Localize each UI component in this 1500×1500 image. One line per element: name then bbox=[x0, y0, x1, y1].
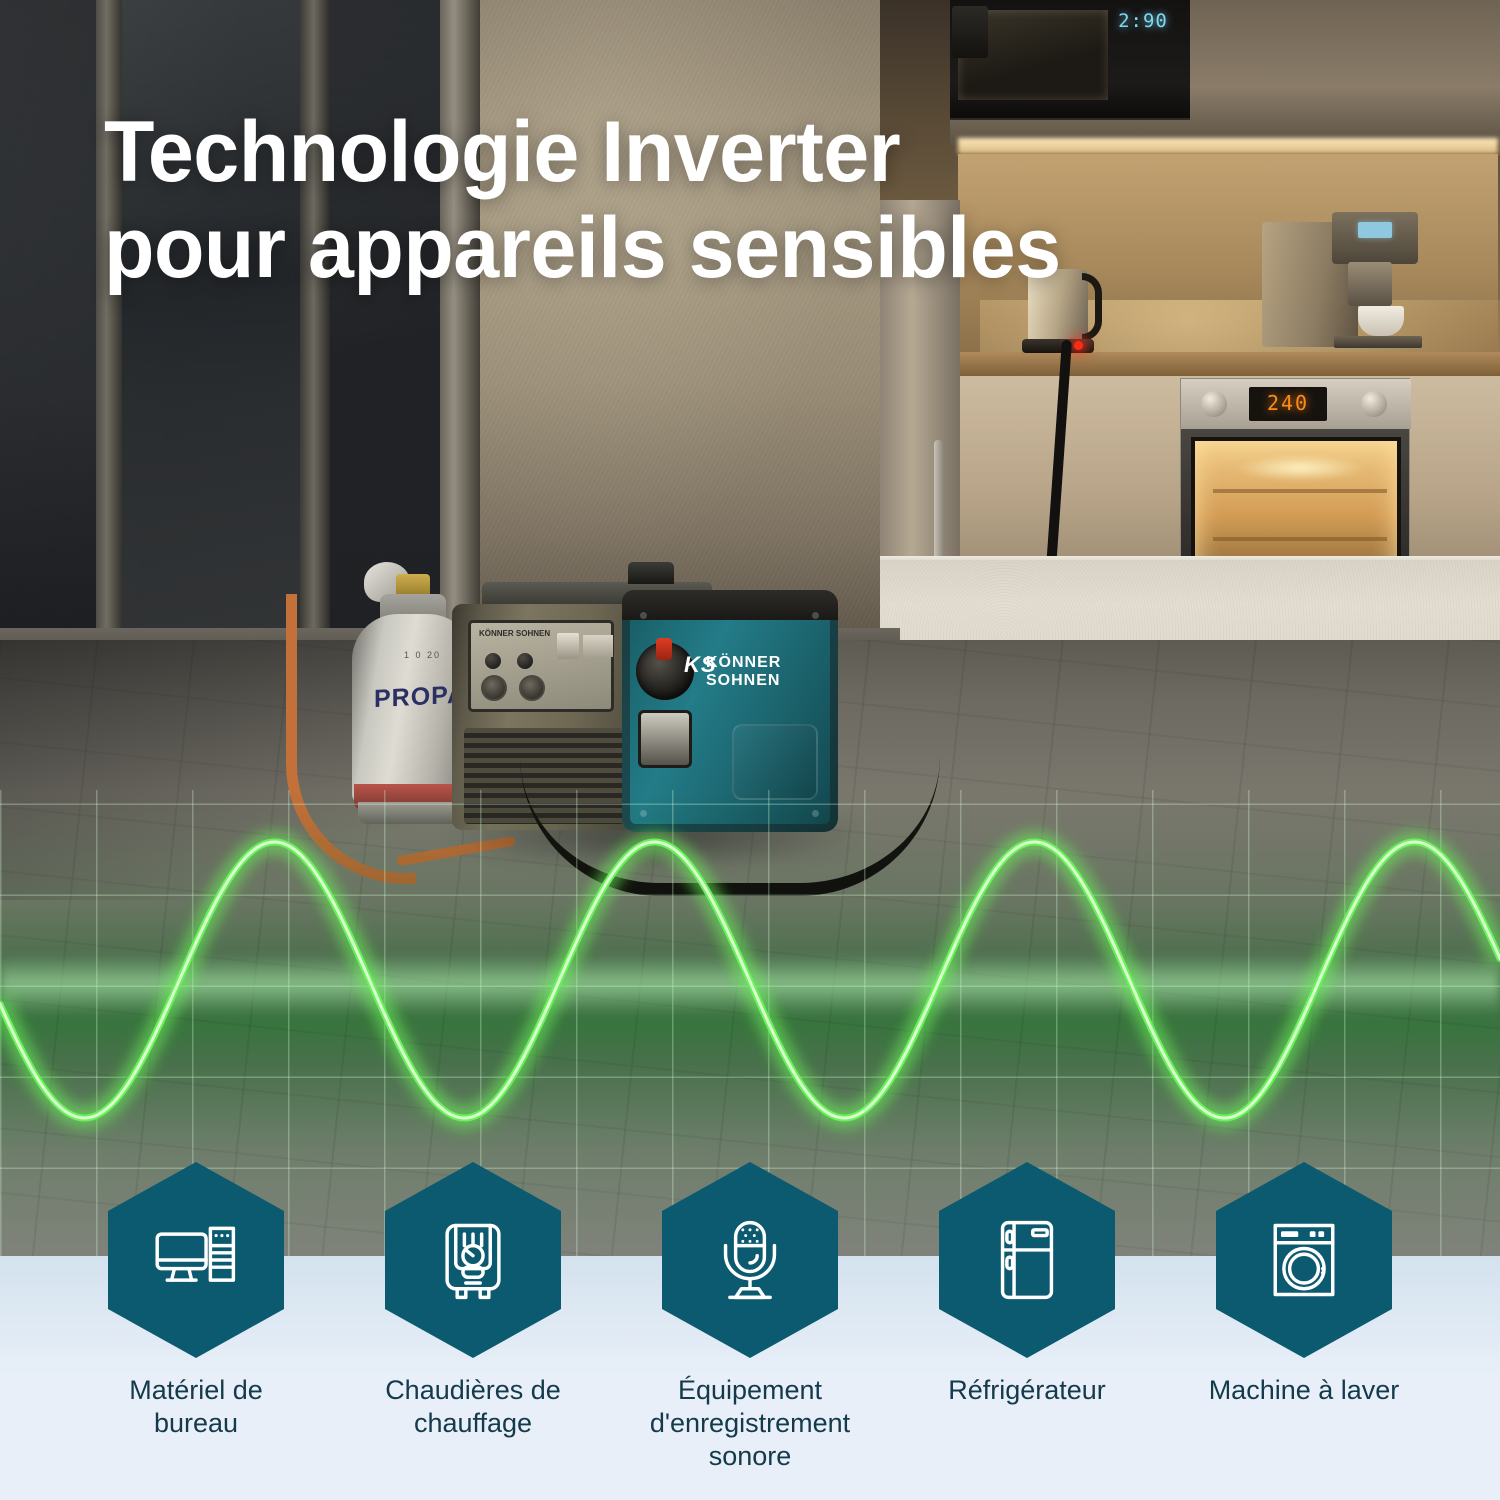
refrigerator-icon bbox=[981, 1214, 1073, 1306]
feature-hexagon bbox=[385, 1162, 561, 1358]
glass-pane-left bbox=[0, 0, 96, 650]
feature-hexagon bbox=[1216, 1162, 1392, 1358]
feature-label: Matériel de bureau bbox=[90, 1374, 302, 1440]
kitchen-interior: 2:90 bbox=[880, 0, 1500, 620]
microwave-display: 2:90 bbox=[1112, 10, 1174, 32]
panel-indicator-lights bbox=[583, 635, 613, 657]
feature-label: Chaudières de chauffage bbox=[367, 1374, 579, 1440]
gas-boiler-icon bbox=[427, 1214, 519, 1306]
feature-item-heating-boiler[interactable]: Chaudières de chauffage bbox=[367, 1162, 579, 1500]
shell-screw bbox=[640, 612, 647, 619]
coffee-drip-tray bbox=[1334, 336, 1422, 348]
kettle-power-led bbox=[1074, 341, 1083, 350]
cylinder-top-marking: 1 0 20 bbox=[404, 650, 441, 660]
kettle-base bbox=[1022, 339, 1094, 353]
coffee-machine-display bbox=[1358, 222, 1392, 238]
feature-hexagon bbox=[108, 1162, 284, 1358]
oven-interior-light bbox=[1235, 455, 1365, 481]
feature-label: Machine à laver bbox=[1209, 1374, 1400, 1407]
feature-label: Équipement d'enregistrement sonore bbox=[644, 1374, 856, 1473]
glass-pane-right bbox=[330, 0, 440, 640]
headline-line-2: pour appareils sensibles bbox=[104, 200, 1237, 296]
panel-brand-label: KÖNNER SOHNEN bbox=[479, 629, 550, 638]
coffee-machine-control-top bbox=[1332, 212, 1418, 264]
page-title: Technologie Inverter pour appareils sens… bbox=[104, 104, 1237, 296]
stucco-pillar bbox=[480, 0, 900, 640]
washing-machine-icon bbox=[1258, 1214, 1350, 1306]
brand-line-1: KÖNNER bbox=[706, 654, 781, 671]
oven-control-panel: 240 bbox=[1181, 379, 1411, 429]
feature-item-washing-machine[interactable]: Machine à laver bbox=[1198, 1162, 1410, 1500]
generator-top-cover bbox=[622, 590, 838, 620]
oven-rack bbox=[1213, 489, 1387, 493]
feature-item-office-equipment[interactable]: Matériel de bureau bbox=[90, 1162, 302, 1500]
glass-pane-center bbox=[122, 0, 300, 640]
coffee-spout bbox=[1348, 262, 1392, 306]
coffee-machine bbox=[1262, 212, 1422, 357]
generator-outlet bbox=[481, 675, 507, 701]
oven-display: 240 bbox=[1249, 387, 1327, 421]
promo-banner: 2:90 bbox=[0, 0, 1500, 1500]
generator-control-panel: KÖNNER SOHNEN bbox=[468, 620, 614, 712]
headline-line-1: Technologie Inverter bbox=[104, 104, 900, 200]
feature-item-refrigerator[interactable]: Réfrigérateur bbox=[921, 1162, 1133, 1500]
brand-line-2: SOHNEN bbox=[706, 672, 780, 689]
fuel-cap bbox=[628, 562, 674, 584]
feature-hexagon bbox=[662, 1162, 838, 1358]
oven-knob-left bbox=[1201, 391, 1227, 417]
oven-knob-right bbox=[1361, 391, 1387, 417]
feature-hexagon bbox=[939, 1162, 1115, 1358]
feature-label: Réfrigérateur bbox=[948, 1374, 1106, 1407]
ks-logo-icon: KS bbox=[684, 656, 704, 686]
generator-outlet bbox=[519, 675, 545, 701]
shell-screw bbox=[812, 612, 819, 619]
feature-list: Matériel de bureau Chaudières bbox=[0, 1162, 1500, 1500]
door-frame bbox=[440, 0, 480, 660]
brand-wordmark: KS KÖNNER SOHNEN bbox=[706, 654, 781, 690]
circuit-breaker-switch[interactable] bbox=[557, 633, 579, 659]
feature-item-sound-recording[interactable]: Équipement d'enregistrement sonore bbox=[644, 1162, 856, 1500]
microphone-icon bbox=[704, 1214, 796, 1306]
oven-rack bbox=[1213, 537, 1387, 541]
panel-knob bbox=[517, 653, 533, 669]
desktop-computer-icon bbox=[150, 1214, 242, 1306]
coffee-cup bbox=[1358, 306, 1404, 336]
wall-switch-plate bbox=[952, 6, 988, 58]
panel-knob bbox=[485, 653, 501, 669]
